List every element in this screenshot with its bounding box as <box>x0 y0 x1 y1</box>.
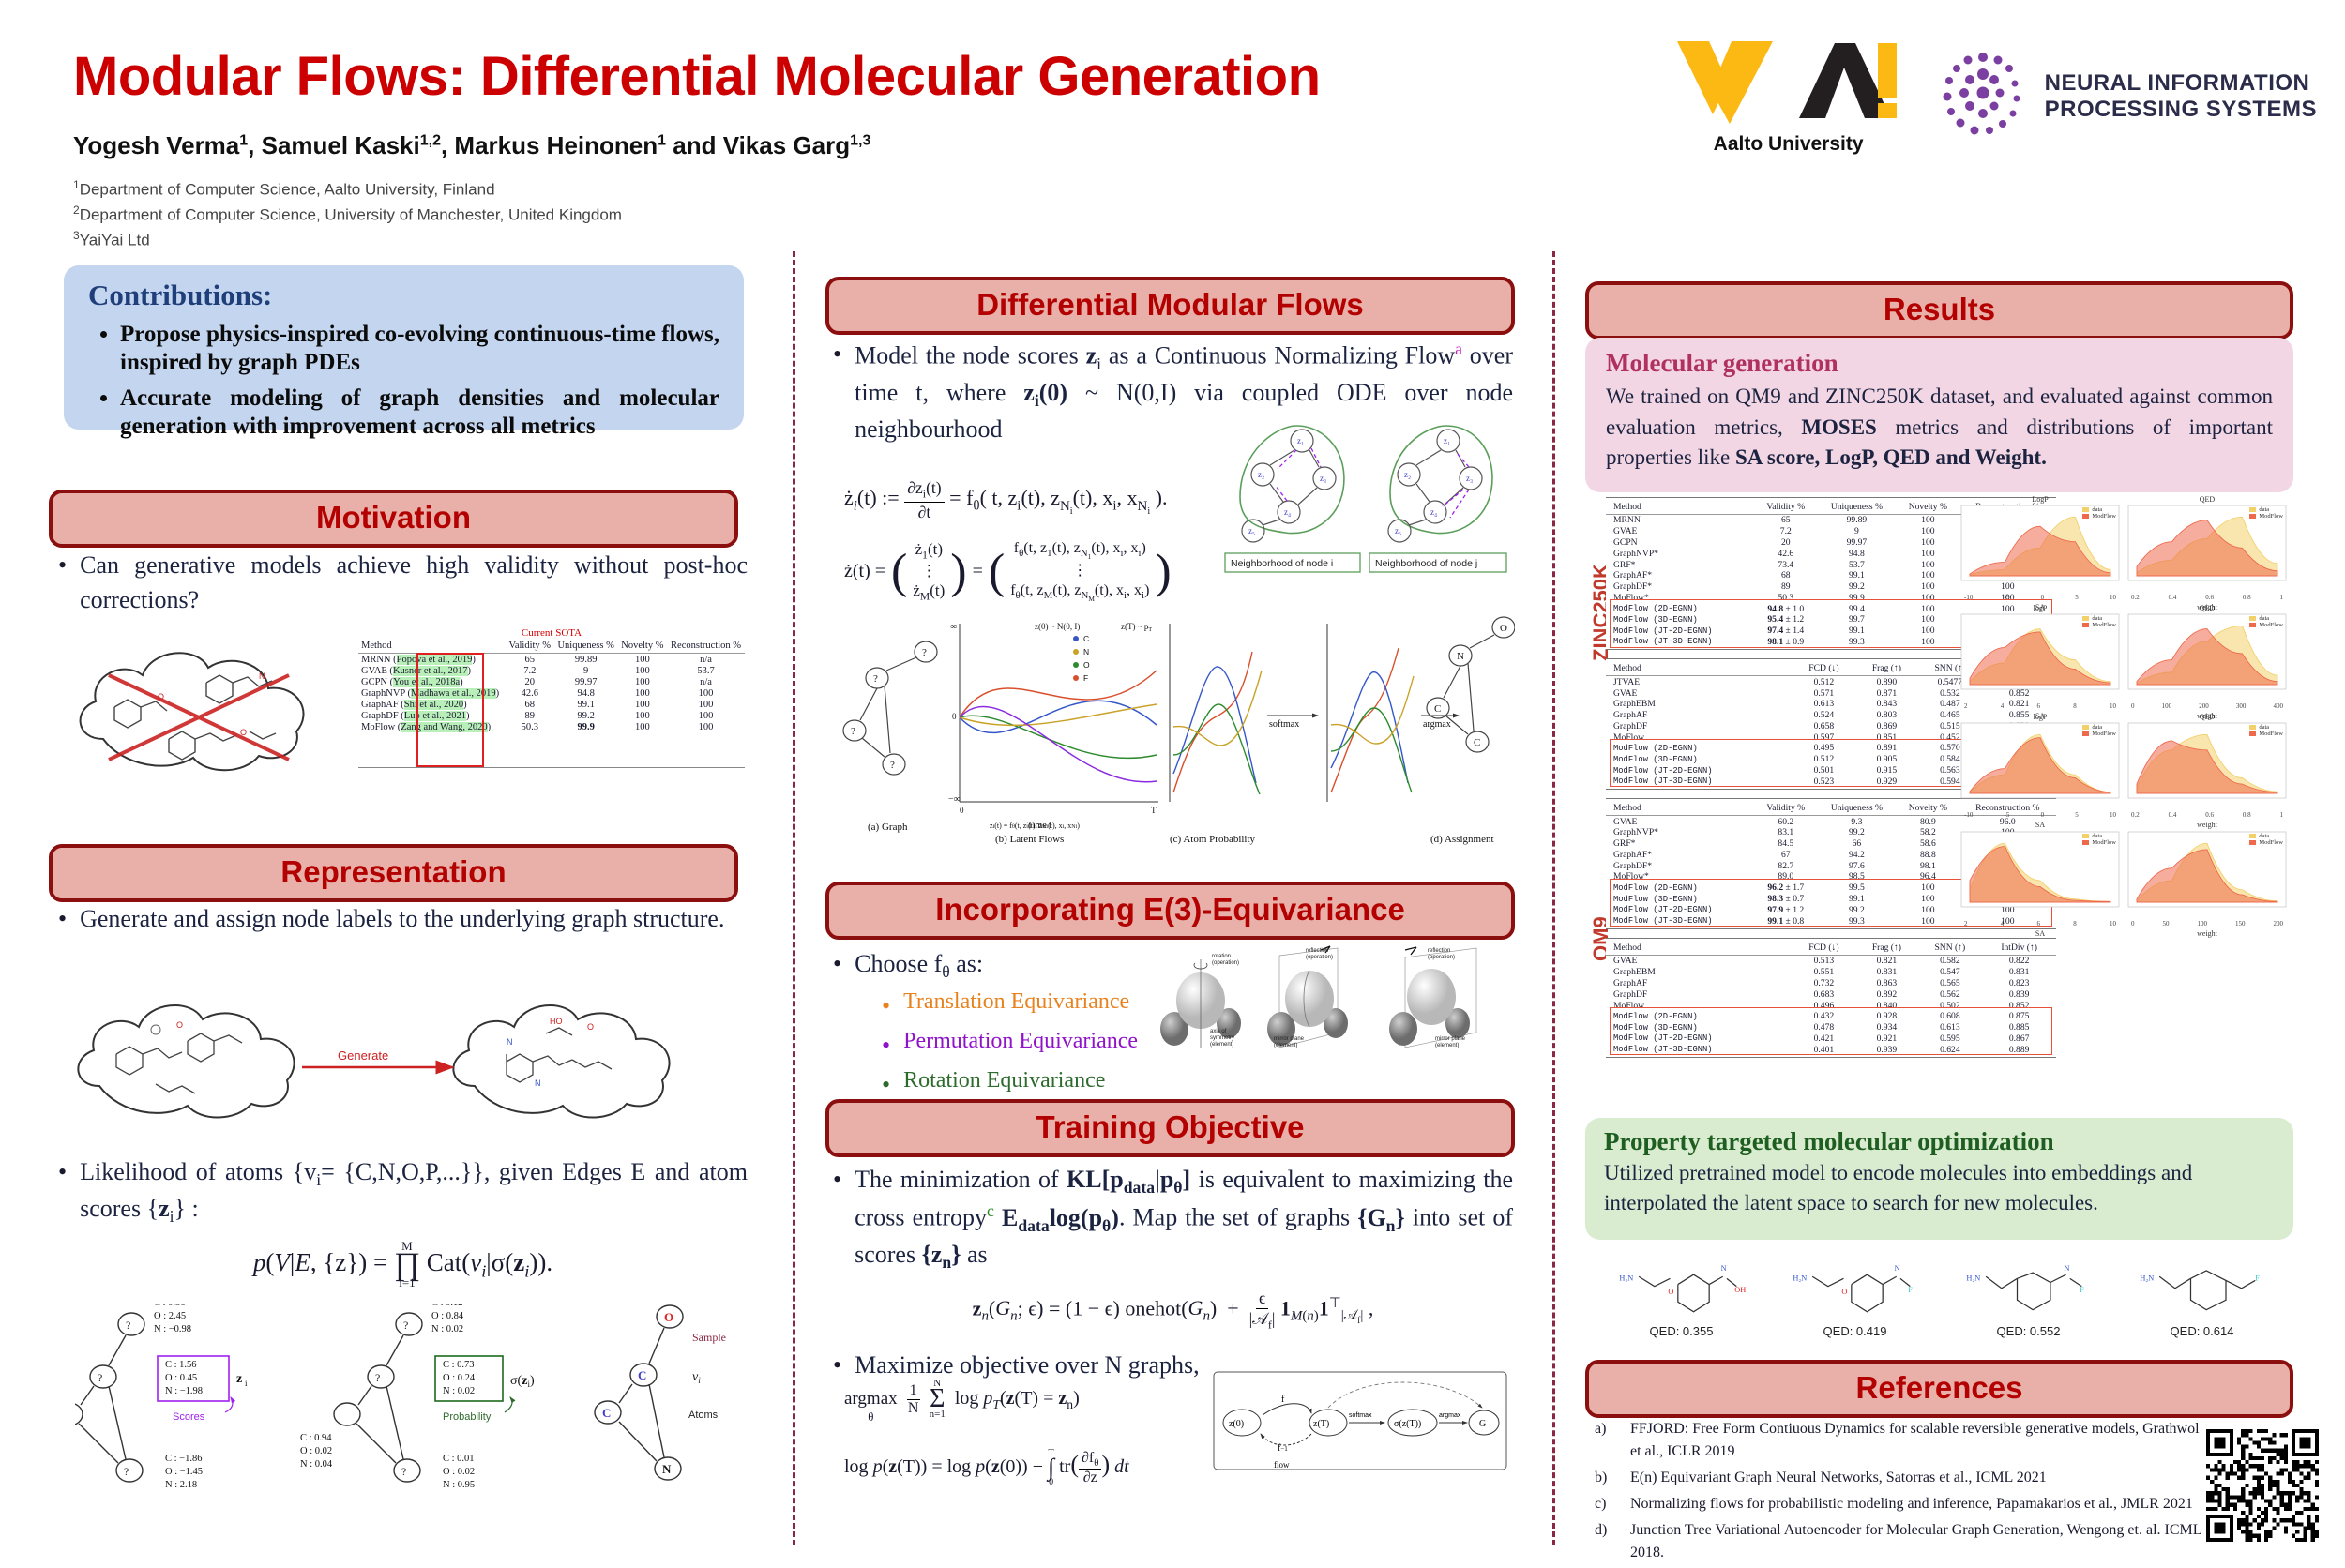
table-cell: 99.89 <box>554 654 618 666</box>
reference-key: d) <box>1595 1519 1619 1564</box>
molgen-heading: Molecular generation <box>1606 349 2273 378</box>
table-cell: n/a <box>667 676 745 687</box>
svg-text:C: C <box>1474 737 1480 748</box>
svg-text:N : 0.02: N : 0.02 <box>443 1386 475 1396</box>
molecule-card: H₂NONOHQED: 0.355 <box>1599 1247 1763 1338</box>
table-cell: 0.843 <box>1855 699 1917 710</box>
table-cell: 0.823 <box>1982 978 2056 989</box>
sota-table: Method Validity % Uniqueness % Novelty %… <box>358 639 745 732</box>
svg-text:(element): (element) <box>1210 1042 1233 1048</box>
table-cell: MoFlow (Zang and Wang, 2020) <box>358 721 506 732</box>
table-cell: 0.613 <box>1792 699 1855 710</box>
table-cell: 68 <box>1755 570 1817 581</box>
table-cell: 94.2 <box>1817 850 1897 861</box>
svg-text:?: ? <box>851 726 855 737</box>
svg-text:z(T) ~ pT: z(T) ~ pT <box>1121 622 1152 633</box>
svg-text:z₅: z₅ <box>1395 526 1401 535</box>
chart-logP: logPdataModFlow246810SA <box>1960 606 2120 709</box>
molecule-structure: H₂NONOH <box>1611 1247 1752 1318</box>
table-cell: 0.512 <box>1792 676 1855 687</box>
qed-label: QED: 0.614 <box>2120 1324 2284 1338</box>
col-header: SNN (↑) <box>1917 941 1982 956</box>
svg-text:?: ? <box>873 673 878 685</box>
table-cell: GraphEBM <box>1606 699 1792 710</box>
reference-item: a)FFJORD: Free Form Contiuous Dynamics f… <box>1595 1418 2214 1463</box>
col-uniqueness: Uniqueness % <box>554 639 618 654</box>
table-cell: n/a <box>667 654 745 666</box>
likelihood-bullet-text: Likelihood of atoms {vi= {C,N,O,P,...}},… <box>80 1155 748 1229</box>
table-cell: GraphAF <box>1606 978 1792 989</box>
svg-text:O: O <box>176 1020 183 1030</box>
svg-text:H₂N: H₂N <box>1793 1274 1807 1282</box>
svg-text:O : −1.45: O : −1.45 <box>165 1467 203 1477</box>
qed-label: QED: 0.552 <box>1946 1324 2110 1338</box>
representation-bullet-text: Generate and assign node labels to the u… <box>80 902 724 937</box>
svg-text:N : 0.04: N : 0.04 <box>300 1459 333 1470</box>
svg-text:f: f <box>1281 1395 1285 1405</box>
propopt-text: Utilized pretrained model to encode mole… <box>1604 1158 2275 1218</box>
list-item: Propose physics-inspired co-evolving con… <box>120 321 719 376</box>
chart-tick-labels: 0100200300400 <box>2127 702 2287 710</box>
chart-row: logPdataModFlow-10-50510SAQEDdataModFlow… <box>1960 715 2293 818</box>
svg-text:OH: OH <box>1734 1286 1746 1294</box>
training-equation-2: argmaxθ 1N NΣn=1 log pT(z(T) = zn) <box>844 1379 1080 1425</box>
qed-label: QED: 0.419 <box>1773 1324 1937 1338</box>
table-cell: GraphNVP (Madhawa et al., 2019) <box>358 687 506 699</box>
chart-tick-labels: -10-50510 <box>1960 594 2120 601</box>
table-cell: 53.7 <box>1817 559 1897 570</box>
reference-key: c) <box>1595 1493 1619 1515</box>
svg-text:mirror plane: mirror plane <box>1435 1036 1466 1042</box>
svg-text:vi: vi <box>692 1370 701 1385</box>
affiliation-3: 3YaiYai Ltd <box>73 229 150 250</box>
table-cell: 100 <box>618 710 667 721</box>
chart-title: logP <box>1960 713 2120 721</box>
svg-text:T: T <box>1151 806 1157 815</box>
table-cell: 60.2 <box>1755 816 1817 827</box>
chart-legend: dataModFlow <box>2249 724 2283 737</box>
qr-code[interactable] <box>2206 1429 2319 1542</box>
training-equation-1: zn(Gn; ϵ) = (1 − ϵ) onehot(Gn) + ϵ|𝒜f| 1… <box>833 1289 1513 1333</box>
reference-item: c)Normalizing flows for probabilistic mo… <box>1595 1493 2214 1515</box>
svg-text:(operation): (operation) <box>1428 955 1455 960</box>
svg-text:mirror plane: mirror plane <box>1274 1036 1305 1042</box>
table-cell: 7.2 <box>1755 526 1817 537</box>
col-novelty: Novelty % <box>618 639 667 654</box>
svg-text:−∞: −∞ <box>948 794 961 805</box>
table-cell: GraphEBM <box>1606 967 1792 978</box>
table-header-row: MethodFCD (↓)Frag (↑)SNN (↑)IntDiv (↑) <box>1606 941 2056 956</box>
propopt-heading: Property targeted molecular optimization <box>1604 1127 2275 1156</box>
svg-text:N: N <box>259 671 265 681</box>
table-cell: 66 <box>1817 838 1897 850</box>
svg-text:C : 0.94: C : 0.94 <box>300 1433 332 1443</box>
table-cell: 82.7 <box>1755 860 1817 871</box>
table-cell: 99.2 <box>1817 581 1897 593</box>
chart-tick-labels: 246810 <box>1960 702 2120 710</box>
likelihood-formula: p(V|E, {z}) = M∏i=1 Cat(vi|σ(zi)). <box>58 1239 748 1291</box>
molecule-card: H₂NNFQED: 0.552 <box>1946 1247 2110 1338</box>
svg-text:O: O <box>1841 1288 1847 1296</box>
table-cell: 100 <box>618 665 667 676</box>
table-cell: 97.6 <box>1817 860 1897 871</box>
table-cell: 0.562 <box>1917 988 1982 1000</box>
table-cell: 100 <box>618 699 667 710</box>
table-cell: GraphAF* <box>1606 850 1755 861</box>
svg-text:H₂N: H₂N <box>1619 1274 1633 1282</box>
col-reconstruction: Reconstruction % <box>667 639 745 654</box>
chart-title: QED <box>2127 713 2287 721</box>
svg-text:?: ? <box>922 647 927 658</box>
svg-text:C: C <box>638 1368 646 1382</box>
svg-text:F: F <box>2080 1286 2084 1294</box>
svg-text:z₅: z₅ <box>1248 526 1255 535</box>
table-cell: 100 <box>1897 570 1959 581</box>
training-equation-3: log p(z(T)) = log p(z(0)) − T∫0 tr(∂fθ∂z… <box>844 1449 1129 1487</box>
author-list: Yogesh Verma1, Samuel Kaski1,2, Markus H… <box>73 131 870 160</box>
table-cell: GVAE <box>1606 816 1755 827</box>
neurips-wordmark: NEURAL INFORMATION PROCESSING SYSTEMS <box>2045 70 2317 122</box>
table-cell: 0.890 <box>1855 676 1917 687</box>
aalto-a-mark <box>1797 38 1902 128</box>
svg-text:N: N <box>1720 1264 1726 1273</box>
table-cell: 94.8 <box>1817 548 1897 559</box>
ode-equation-2: ż(t) = ( ż1(t)⋮żM(t) ) = ( fθ(t, z1(t), … <box>844 539 1172 604</box>
table-cell: 0.839 <box>1982 988 2056 1000</box>
property-optimization-panel: Property targeted molecular optimization… <box>1585 1118 2293 1240</box>
table-cell: 68 <box>506 699 554 710</box>
col-method: Method <box>358 639 506 654</box>
svg-text:rotation: rotation <box>1212 954 1231 959</box>
table-row: GraphNVP (Madhawa et al., 2019)42.694.81… <box>358 687 745 699</box>
table-cell: 100 <box>667 721 745 732</box>
svg-text:z₁: z₁ <box>1297 436 1304 445</box>
affiliation-1: 1Department of Computer Science, Aalto U… <box>73 178 495 200</box>
table-cell: 0.551 <box>1792 967 1855 978</box>
svg-text:σ(z(T)): σ(z(T)) <box>1394 1419 1421 1429</box>
svg-text:O: O <box>664 1310 673 1324</box>
table-cell: 89 <box>1755 581 1817 593</box>
svg-text:z: z <box>236 1372 242 1386</box>
chart-legend: dataModFlow <box>2082 833 2116 846</box>
svg-text:N : 0.95: N : 0.95 <box>443 1480 475 1490</box>
table-cell: 99.89 <box>1817 515 1897 526</box>
chart-LogP: LogPdataModFlow-10-50510SA <box>1960 497 2120 600</box>
chart-tick-labels: 0.20.40.60.81 <box>2127 811 2287 819</box>
svg-text:C : 0.12: C : 0.12 <box>431 1304 463 1308</box>
aalto-caption: Aalto University <box>1714 133 1864 156</box>
section-banner-equivariance: Incorporating E(3)-Equivariance <box>825 882 1515 940</box>
col-header: Method <box>1606 941 1792 956</box>
table-cell: 0.513 <box>1792 956 1855 967</box>
table-cell: 99.2 <box>1817 827 1897 838</box>
svg-text:z(T): z(T) <box>1313 1419 1329 1429</box>
table-cell: 0.524 <box>1792 710 1855 721</box>
svg-text:O : 0.24: O : 0.24 <box>443 1373 476 1383</box>
table-cell: MRNN (Popova et al., 2019) <box>358 654 506 666</box>
molecule-cloud-illustration: ONO <box>66 626 366 791</box>
logo-group: Aalto University NEURAL <box>1675 36 2317 158</box>
table-cell: 99.1 <box>554 699 618 710</box>
col-header: Novelty % <box>1897 500 1959 515</box>
table-cell: 65 <box>1755 515 1817 526</box>
table-cell: 9 <box>554 665 618 676</box>
table-cell: 84.5 <box>1755 838 1817 850</box>
svg-text:F: F <box>2255 1274 2260 1282</box>
chart-tick-labels: 050100150200 <box>2127 920 2287 927</box>
col-validity: Validity % <box>506 639 554 654</box>
table-cell: 42.6 <box>1755 548 1817 559</box>
chart-QED: QEDdataModFlow0100200300400weight <box>2127 606 2287 709</box>
molecule-structure: H₂NONF <box>1785 1247 1926 1318</box>
svg-text:z(0) ~ N(0, I): z(0) ~ N(0, I) <box>1035 622 1080 631</box>
table-cell: GraphDF (Luo et al., 2021) <box>358 710 506 721</box>
table-cell: GraphDF <box>1606 988 1792 1000</box>
svg-text:axis of: axis of <box>1210 1029 1227 1034</box>
table-cell: GRF* <box>1606 559 1755 570</box>
table-cell: GVAE <box>1606 687 1792 699</box>
references-list: a)FFJORD: Free Form Contiuous Dynamics f… <box>1595 1418 2214 1568</box>
svg-text:(d) Assignment: (d) Assignment <box>1430 834 1494 845</box>
svg-text:C : 0.73: C : 0.73 <box>443 1360 475 1370</box>
table-cell: 100 <box>1897 581 1959 593</box>
svg-text:argmax: argmax <box>1439 1412 1461 1419</box>
table-cell: MRNN <box>1606 515 1755 526</box>
table-cell: 94.8 <box>554 687 618 699</box>
svg-text:z₁: z₁ <box>1444 436 1450 445</box>
svg-text:reflection: reflection <box>1428 948 1450 954</box>
table-cell: 99.1 <box>1817 570 1897 581</box>
svg-text:(element): (element) <box>1274 1043 1297 1048</box>
chart-QED: QEDdataModFlow0.20.40.60.81weight <box>2127 497 2287 600</box>
table-cell: 80.9 <box>1897 816 1959 827</box>
table-cell: 100 <box>1897 559 1959 570</box>
table-cell: 0.683 <box>1792 988 1855 1000</box>
table-cell: 58.2 <box>1897 827 1959 838</box>
chart-legend: dataModFlow <box>2249 833 2283 846</box>
svg-text:N: N <box>1457 651 1464 662</box>
sota-table-panel: Current SOTA Method Validity % Uniquenes… <box>358 641 745 768</box>
svg-text:N : 2.18: N : 2.18 <box>165 1480 197 1490</box>
neighbourhood-graphs: z₁z₂z₃ z₄z₅ z₁z₂z₃ z₄z₅ Neighborhood of … <box>1219 413 1510 600</box>
table-cell: 89 <box>506 710 554 721</box>
reference-text: Normalizing flows for probabilistic mode… <box>1630 1493 2193 1515</box>
table-cell: 0.863 <box>1855 978 1917 989</box>
chart-tick-labels: -10-50510 <box>1960 811 2120 819</box>
svg-text:H₂N: H₂N <box>2140 1274 2154 1282</box>
latent-flow-figure: ???? (a) Graph ∞ 0 −∞ 0 T Time t zi(t) =… <box>840 614 1515 849</box>
table-cell: 20 <box>1755 537 1817 549</box>
svg-text:N: N <box>1894 1264 1899 1273</box>
table-cell: JTVAE <box>1606 676 1792 687</box>
svg-text:(operation): (operation) <box>1212 960 1239 966</box>
nbh-j-label: Neighborhood of node j <box>1375 558 1477 569</box>
table-cell: 7.2 <box>506 665 554 676</box>
atoms-label: Atoms <box>688 1410 719 1421</box>
svg-text:i: i <box>245 1379 248 1388</box>
table-cell: 0.892 <box>1855 988 1917 1000</box>
table-header-row: Method Validity % Uniqueness % Novelty %… <box>358 639 745 654</box>
col-header: Uniqueness % <box>1817 801 1897 816</box>
table-cell: 100 <box>618 687 667 699</box>
choose-f-text: Choose fθ as: <box>855 947 983 984</box>
list-item: •Rotation Equivariance <box>882 1068 1513 1103</box>
svg-text:C: C <box>602 1406 611 1420</box>
chart-xlabel: SA <box>1960 929 2120 938</box>
svg-text:?: ? <box>403 1319 408 1332</box>
reference-text: E(n) Equivariant Graph Neural Networks, … <box>1630 1467 2047 1489</box>
table-cell: 0.869 <box>1855 721 1917 732</box>
reference-text: Junction Tree Variational Autoencoder fo… <box>1630 1519 2214 1564</box>
svg-text:O : 0.02: O : 0.02 <box>300 1446 332 1456</box>
svg-text:(element): (element) <box>1435 1043 1459 1048</box>
svg-text:z₄: z₄ <box>1284 507 1291 517</box>
molecule-structure: H₂NNF <box>1959 1247 2099 1318</box>
section-banner-representation: Representation <box>49 844 738 902</box>
svg-text:?: ? <box>890 760 895 771</box>
svg-text:C: C <box>1083 634 1089 643</box>
svg-text:O : 0.02: O : 0.02 <box>443 1467 475 1477</box>
svg-text:C : 0.56: C : 0.56 <box>154 1304 186 1308</box>
svg-text:softmax: softmax <box>1349 1412 1372 1419</box>
table-cell: 100 <box>618 676 667 687</box>
table-row: GCPN (You et al., 2018a)2099.97100n/a <box>358 676 745 687</box>
col-header: Method <box>1606 801 1755 816</box>
table-cell: 0.582 <box>1917 956 1982 967</box>
svg-text:f−1: f−1 <box>1278 1443 1288 1454</box>
svg-text:0: 0 <box>960 806 964 815</box>
sota-caption: Current SOTA <box>358 627 745 639</box>
distribution-charts: LogPdataModFlow-10-50510SAQEDdataModFlow… <box>1960 497 2293 932</box>
aalto-logo: Aalto University <box>1675 38 1902 156</box>
svg-text:N : 0.02: N : 0.02 <box>431 1324 463 1334</box>
table-cell: 83.1 <box>1755 827 1817 838</box>
svg-text:HO: HO <box>550 1017 563 1026</box>
chart-row: logPdataModFlow246810SAQEDdataModFlow010… <box>1960 606 2293 709</box>
svg-text:symmetry: symmetry <box>1210 1035 1234 1041</box>
representation-bullet: •Generate and assign node labels to the … <box>58 902 748 937</box>
svg-text:z₄: z₄ <box>1430 507 1437 517</box>
reference-key: b) <box>1595 1467 1619 1489</box>
training-bullet-1: The minimization of KL[pdata|pθ] is equi… <box>855 1163 1513 1275</box>
list-item: Accurate modeling of graph densities and… <box>120 384 719 440</box>
table-cell: GVAE (Kusner et al., 2017) <box>358 665 506 676</box>
chart-logP: logPdataModFlow-10-50510SA <box>1960 715 2120 818</box>
svg-text:?: ? <box>375 1371 380 1384</box>
col-header: Method <box>1606 500 1755 515</box>
table-cell: GVAE <box>1606 526 1755 537</box>
representation-illustration: O HOO NN Generate <box>66 975 760 1149</box>
svg-text:softmax: softmax <box>1269 719 1299 730</box>
svg-text:H₂N: H₂N <box>1966 1274 1980 1282</box>
sample-label: Sample <box>692 1331 726 1344</box>
poster-root: Modular Flows: Differential Molecular Ge… <box>0 0 2345 1562</box>
chart-QED: QEDdataModFlow0.20.40.60.81weight <box>2127 715 2287 818</box>
scores-probability-diagram: ??? C : 0.56O : 2.45N : −0.98 C : 1.56O … <box>75 1304 760 1538</box>
neurips-logo: NEURAL INFORMATION PROCESSING SYSTEMS <box>1934 48 2317 145</box>
table-cell: 0.871 <box>1855 687 1917 699</box>
reference-text: FFJORD: Free Form Contiuous Dynamics for… <box>1630 1418 2214 1463</box>
symmetry-operations-illustration: rotation (operation) axis of symmetry (e… <box>1154 942 1510 1064</box>
motivation-bullet: •Can generative models achieve high vali… <box>58 549 748 618</box>
svg-text:C : −1.86: C : −1.86 <box>165 1454 202 1464</box>
nbh-i-label: Neighborhood of node i <box>1231 558 1333 569</box>
table-cell: 100 <box>1897 515 1959 526</box>
table-cell: GraphNVP* <box>1606 827 1755 838</box>
table-cell: 53.7 <box>667 665 745 676</box>
ode-equation-1: żi(t) := ∂zi(t)∂t = fθ( t, zi(t), zNi(t)… <box>844 478 1168 522</box>
chart-title: logP <box>1960 604 2120 612</box>
col-header: Validity % <box>1755 500 1817 515</box>
molecule-row: H₂NONOHQED: 0.355H₂NONFQED: 0.419H₂NNFQE… <box>1595 1247 2289 1338</box>
table-cell: 0.831 <box>1982 967 2056 978</box>
likelihood-bullet: • Likelihood of atoms {vi= {C,N,O,P,...}… <box>58 1155 748 1290</box>
svg-text:O: O <box>587 1022 594 1032</box>
table-cell: GRF* <box>1606 838 1755 850</box>
svg-text:O: O <box>1500 623 1507 634</box>
svg-text:N: N <box>1083 647 1089 656</box>
table-cell: 20 <box>506 676 554 687</box>
svg-text:(operation): (operation) <box>1306 955 1333 960</box>
svg-text:C: C <box>1434 703 1441 715</box>
svg-text:O: O <box>1668 1288 1673 1296</box>
table-cell: GraphDF <box>1606 721 1792 732</box>
table-cell: GCPN (You et al., 2018a) <box>358 676 506 687</box>
table-cell: 100 <box>1897 526 1959 537</box>
table-cell: 99.2 <box>554 710 618 721</box>
table-cell: 0.565 <box>1917 978 1982 989</box>
svg-text:0: 0 <box>952 712 957 721</box>
table-row: GraphAF0.7320.8630.5650.823 <box>1606 978 2056 989</box>
table-cell: 0.821 <box>1855 956 1917 967</box>
chart-title: LogP <box>1960 495 2120 504</box>
contributions-list: Propose physics-inspired co-evolving con… <box>120 321 719 440</box>
svg-text:?: ? <box>401 1465 406 1478</box>
svg-text:z(0): z(0) <box>1229 1419 1244 1429</box>
col-header: Validity % <box>1755 801 1817 816</box>
svg-text:flow: flow <box>1274 1460 1290 1470</box>
col-header: Frag (↑) <box>1855 661 1917 676</box>
neurips-dots-icon <box>1934 48 2032 145</box>
table-cell: 99.97 <box>554 676 618 687</box>
section-banner-dmf: Differential Modular Flows <box>825 277 1515 335</box>
affiliation-2: 2Department of Computer Science, Univers… <box>73 204 622 225</box>
table-row: GVAE0.5130.8210.5820.822 <box>1606 956 2056 967</box>
training-body: • The minimization of KL[pdata|pθ] is eq… <box>833 1163 1513 1383</box>
molecule-card: H₂NFQED: 0.614 <box>2120 1247 2284 1338</box>
table-cell: 100 <box>667 699 745 710</box>
page-title: Modular Flows: Differential Molecular Ge… <box>73 45 1321 108</box>
svg-text:σ(zi): σ(zi) <box>510 1374 535 1389</box>
chart-legend: dataModFlow <box>2082 724 2116 737</box>
svg-text:O: O <box>1083 660 1090 670</box>
table-cell: GraphAF <box>1606 710 1792 721</box>
chart-title: QED <box>2127 495 2287 504</box>
col-header: FCD (↓) <box>1792 661 1855 676</box>
table-cell: 100 <box>667 710 745 721</box>
table-cell: 100 <box>1897 548 1959 559</box>
highlight-box <box>1610 1007 2052 1055</box>
svg-text:N : −1.98: N : −1.98 <box>165 1386 203 1396</box>
scores-label: Scores <box>173 1411 205 1423</box>
table-cell: 58.6 <box>1897 838 1959 850</box>
svg-text:N: N <box>662 1462 672 1476</box>
table-row: MRNN (Popova et al., 2019)6599.89100n/a <box>358 654 745 666</box>
table-row: MoFlow (Zang and Wang, 2020)50.399.91001… <box>358 721 745 732</box>
table-cell: 0.571 <box>1792 687 1855 699</box>
chart-legend: dataModFlow <box>2082 506 2116 520</box>
table-cell: 73.4 <box>1755 559 1817 570</box>
